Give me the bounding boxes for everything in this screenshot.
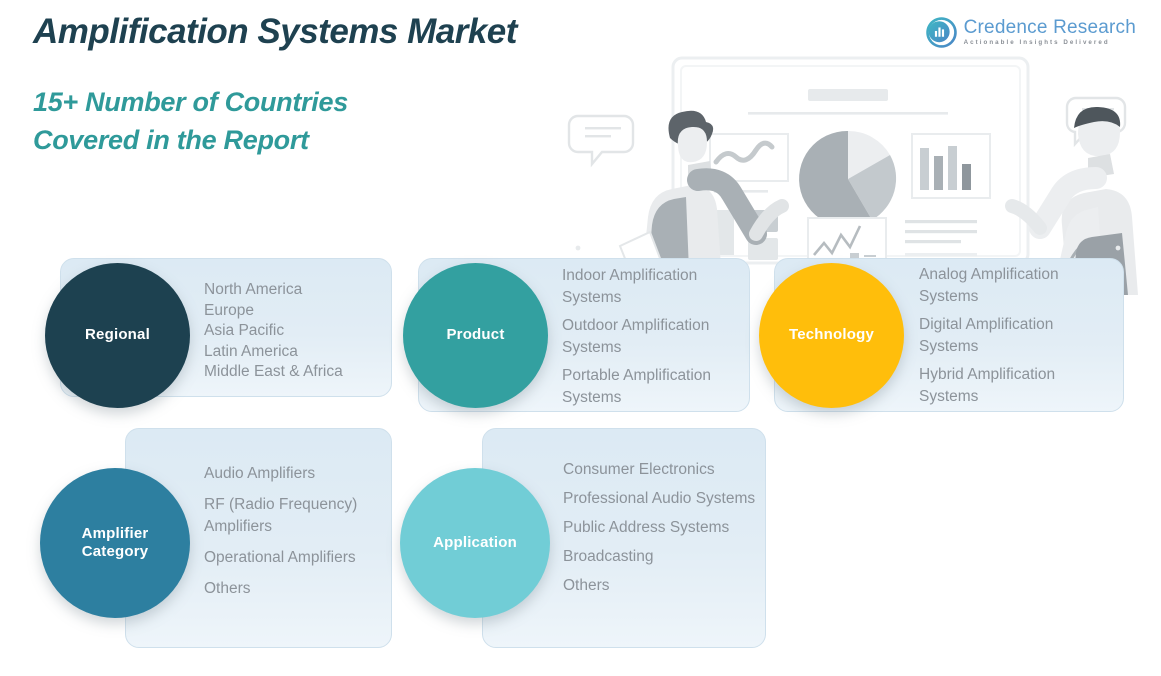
bar-chart-circle-icon	[926, 17, 957, 48]
list-item: Others	[563, 575, 763, 596]
list-item: Analog Amplification Systems	[919, 264, 1113, 308]
list-item: Indoor Amplification Systems	[562, 265, 754, 309]
page-subtitle-line-1: 15+ Number of Countries	[33, 83, 348, 121]
list-item: RF (Radio Frequency) Amplifiers	[204, 494, 392, 538]
list-item: Digital Amplification Systems	[919, 314, 1113, 358]
card-regional-items: North America Europe Asia Pacific Latin …	[204, 280, 394, 383]
card-product-label: Product	[403, 263, 548, 408]
list-item: Outdoor Amplification Systems	[562, 315, 754, 359]
list-item: Professional Audio Systems	[563, 488, 763, 509]
infographic-canvas: Amplification Systems Market 15+ Number …	[0, 0, 1161, 676]
card-technology-bubble[interactable]: Technology	[759, 263, 904, 408]
page-subtitle-line-2: Covered in the Report	[33, 121, 348, 159]
card-product-bubble[interactable]: Product	[403, 263, 548, 408]
card-amplifier-category-label: Amplifier Category	[40, 468, 190, 618]
list-item: Asia Pacific	[204, 321, 394, 342]
list-item: North America	[204, 280, 394, 301]
card-amplifier-category-label-line-2: Category	[82, 543, 149, 561]
list-item: Consumer Electronics	[563, 459, 763, 480]
card-regional-bubble[interactable]: Regional	[45, 263, 190, 408]
list-item: Operational Amplifiers	[204, 547, 392, 569]
card-product-items: Indoor Amplification Systems Outdoor Amp…	[562, 265, 754, 409]
logo-title: Credence Research	[964, 18, 1136, 37]
list-item: Hybrid Amplification Systems	[919, 364, 1113, 408]
card-application-label: Application	[400, 468, 550, 618]
list-item: Audio Amplifiers	[204, 463, 392, 485]
list-item: Europe	[204, 301, 394, 322]
list-item: Others	[204, 578, 392, 600]
page-title: Amplification Systems Market	[33, 12, 517, 52]
list-item: Latin America	[204, 342, 394, 363]
list-item: Public Address Systems	[563, 517, 763, 538]
card-application-items: Consumer Electronics Professional Audio …	[563, 459, 763, 596]
logo-text: Credence Research Actionable Insights De…	[964, 18, 1136, 46]
list-item: Middle East & Africa	[204, 362, 394, 383]
brand-logo: Credence Research Actionable Insights De…	[926, 17, 1136, 48]
card-technology-items: Analog Amplification Systems Digital Amp…	[919, 264, 1113, 408]
card-regional-label: Regional	[45, 263, 190, 408]
card-application-bubble[interactable]: Application	[400, 468, 550, 618]
card-technology-label: Technology	[759, 263, 904, 408]
card-amplifier-category-label-line-1: Amplifier	[82, 525, 149, 543]
logo-tagline: Actionable Insights Delivered	[964, 40, 1136, 46]
list-item: Broadcasting	[563, 546, 763, 567]
card-amplifier-category-items: Audio Amplifiers RF (Radio Frequency) Am…	[204, 463, 392, 600]
card-amplifier-category-bubble[interactable]: Amplifier Category	[40, 468, 190, 618]
page-subtitle: 15+ Number of Countries Covered in the R…	[33, 83, 348, 160]
list-item: Portable Amplification Systems	[562, 365, 754, 409]
